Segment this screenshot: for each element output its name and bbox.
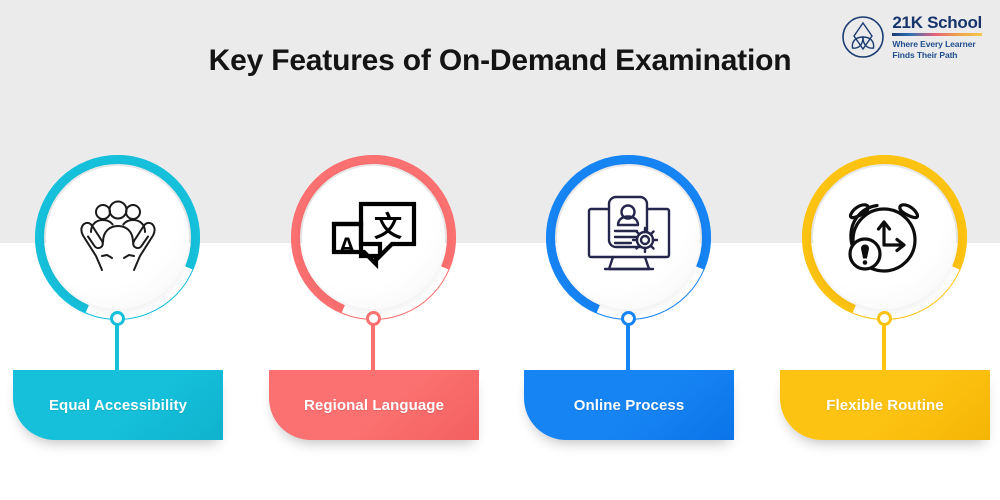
feature-item-regional-language[interactable]: A 文 Regional Language	[269, 0, 479, 500]
feature-item-flexible-routine[interactable]: Flexible Routine	[780, 0, 990, 500]
svg-text:A: A	[338, 233, 355, 260]
monitor-profile-gear-icon	[585, 195, 673, 281]
feature-label-box[interactable]: Equal Accessibility	[13, 370, 223, 440]
alarm-clock-alert-icon	[841, 196, 929, 280]
connector-stem	[115, 324, 119, 376]
feature-list: Equal Accessibility A 文	[0, 0, 1000, 500]
feature-label: Equal Accessibility	[41, 397, 195, 414]
feature-icon-ring: A 文	[291, 155, 456, 320]
feature-label-box[interactable]: Flexible Routine	[780, 370, 990, 440]
infographic-root: Key Features of On-Demand Examination 21…	[0, 0, 1000, 500]
feature-label: Regional Language	[296, 397, 452, 414]
feature-icon-disc	[46, 166, 189, 309]
feature-label-box[interactable]: Online Process	[524, 370, 734, 440]
translate-speech-bubbles-icon: A 文	[330, 200, 418, 276]
svg-text:文: 文	[373, 210, 401, 243]
feature-label-box[interactable]: Regional Language	[269, 370, 479, 440]
feature-icon-ring	[35, 155, 200, 320]
feature-label: Online Process	[566, 397, 693, 414]
people-in-hands-icon	[72, 198, 164, 278]
connector-stem	[626, 324, 630, 376]
feature-icon-disc	[813, 166, 956, 309]
connector-stem	[371, 324, 375, 376]
connector-stem	[882, 324, 886, 376]
feature-icon-ring	[802, 155, 967, 320]
feature-item-equal-accessibility[interactable]: Equal Accessibility	[13, 0, 223, 500]
feature-item-online-process[interactable]: Online Process	[524, 0, 734, 500]
feature-icon-ring	[546, 155, 711, 320]
feature-icon-disc: A 文	[302, 166, 445, 309]
feature-icon-disc	[557, 166, 700, 309]
feature-label: Flexible Routine	[818, 397, 951, 414]
